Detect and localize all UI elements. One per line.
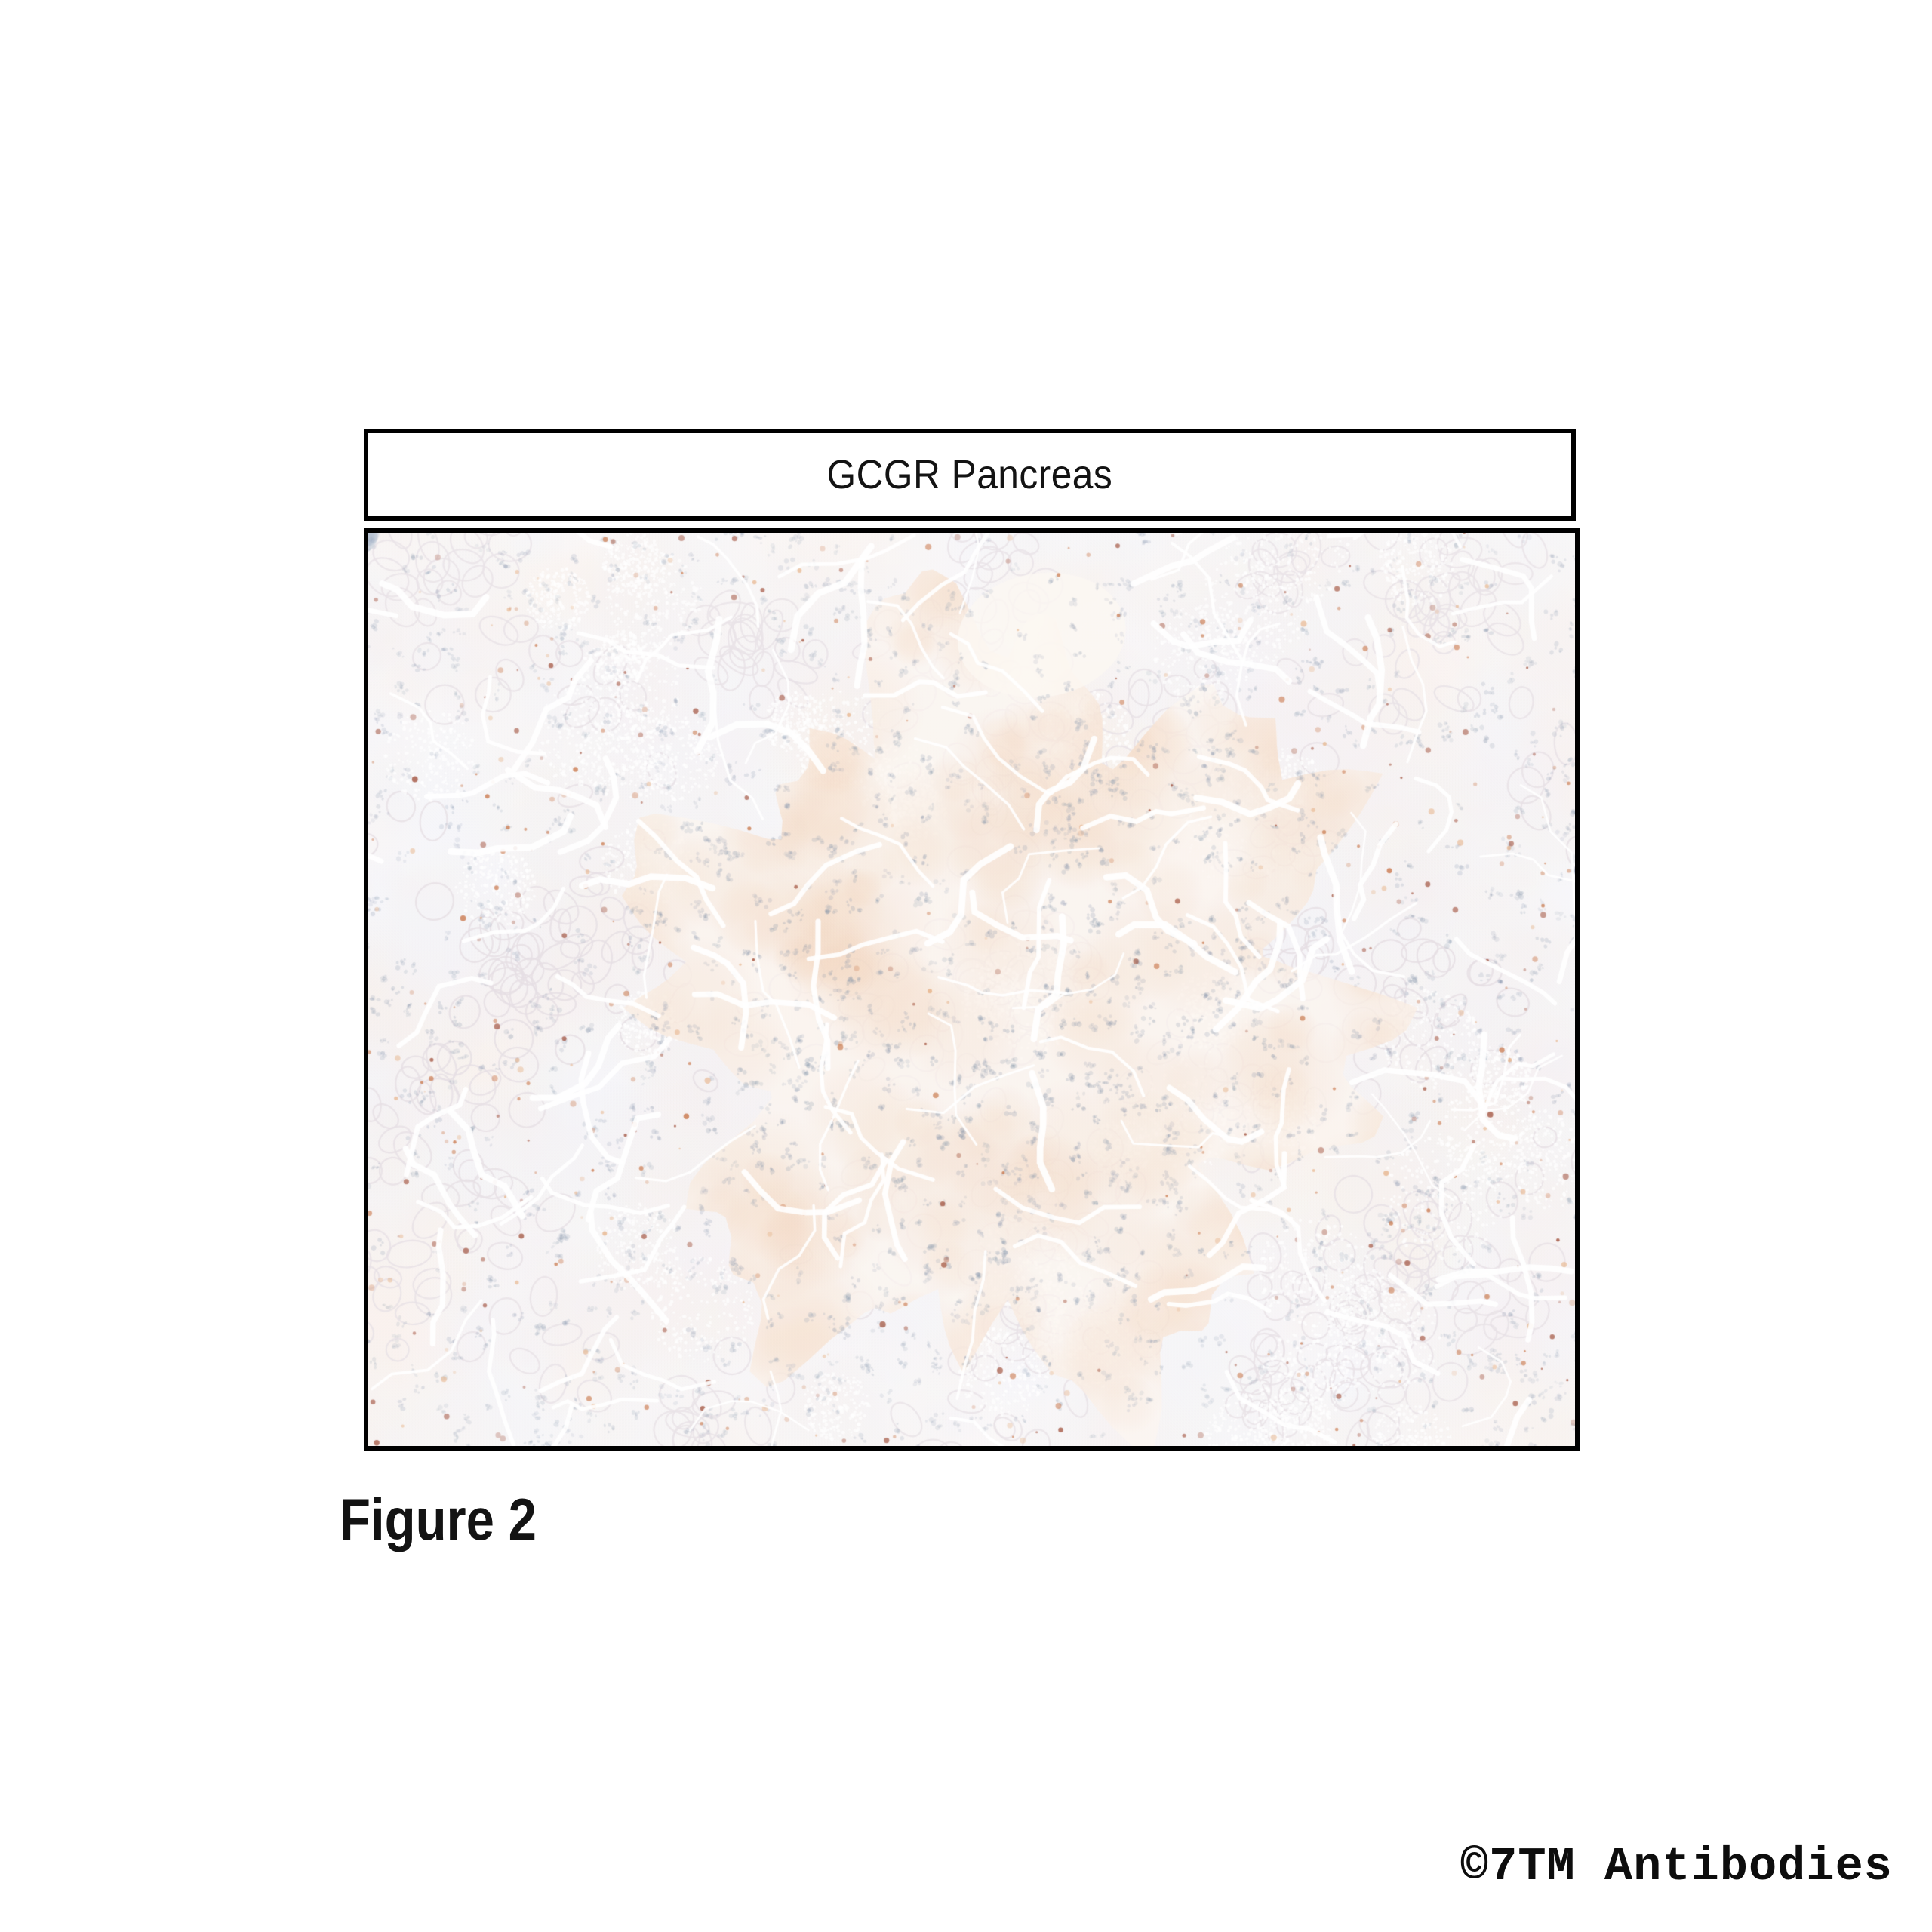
micrograph-image [368,533,1575,1446]
copyright-notice: ©7TM Antibodies [1460,1840,1893,1894]
figure-root: GCGR Pancreas Figure 2 ©7TM Antibodies [0,0,1932,1932]
micrograph-panel [364,528,1580,1451]
panel-title-box: GCGR Pancreas [364,429,1576,521]
figure-caption: Figure 2 [340,1485,537,1554]
panel-title-text: GCGR Pancreas [827,451,1113,498]
